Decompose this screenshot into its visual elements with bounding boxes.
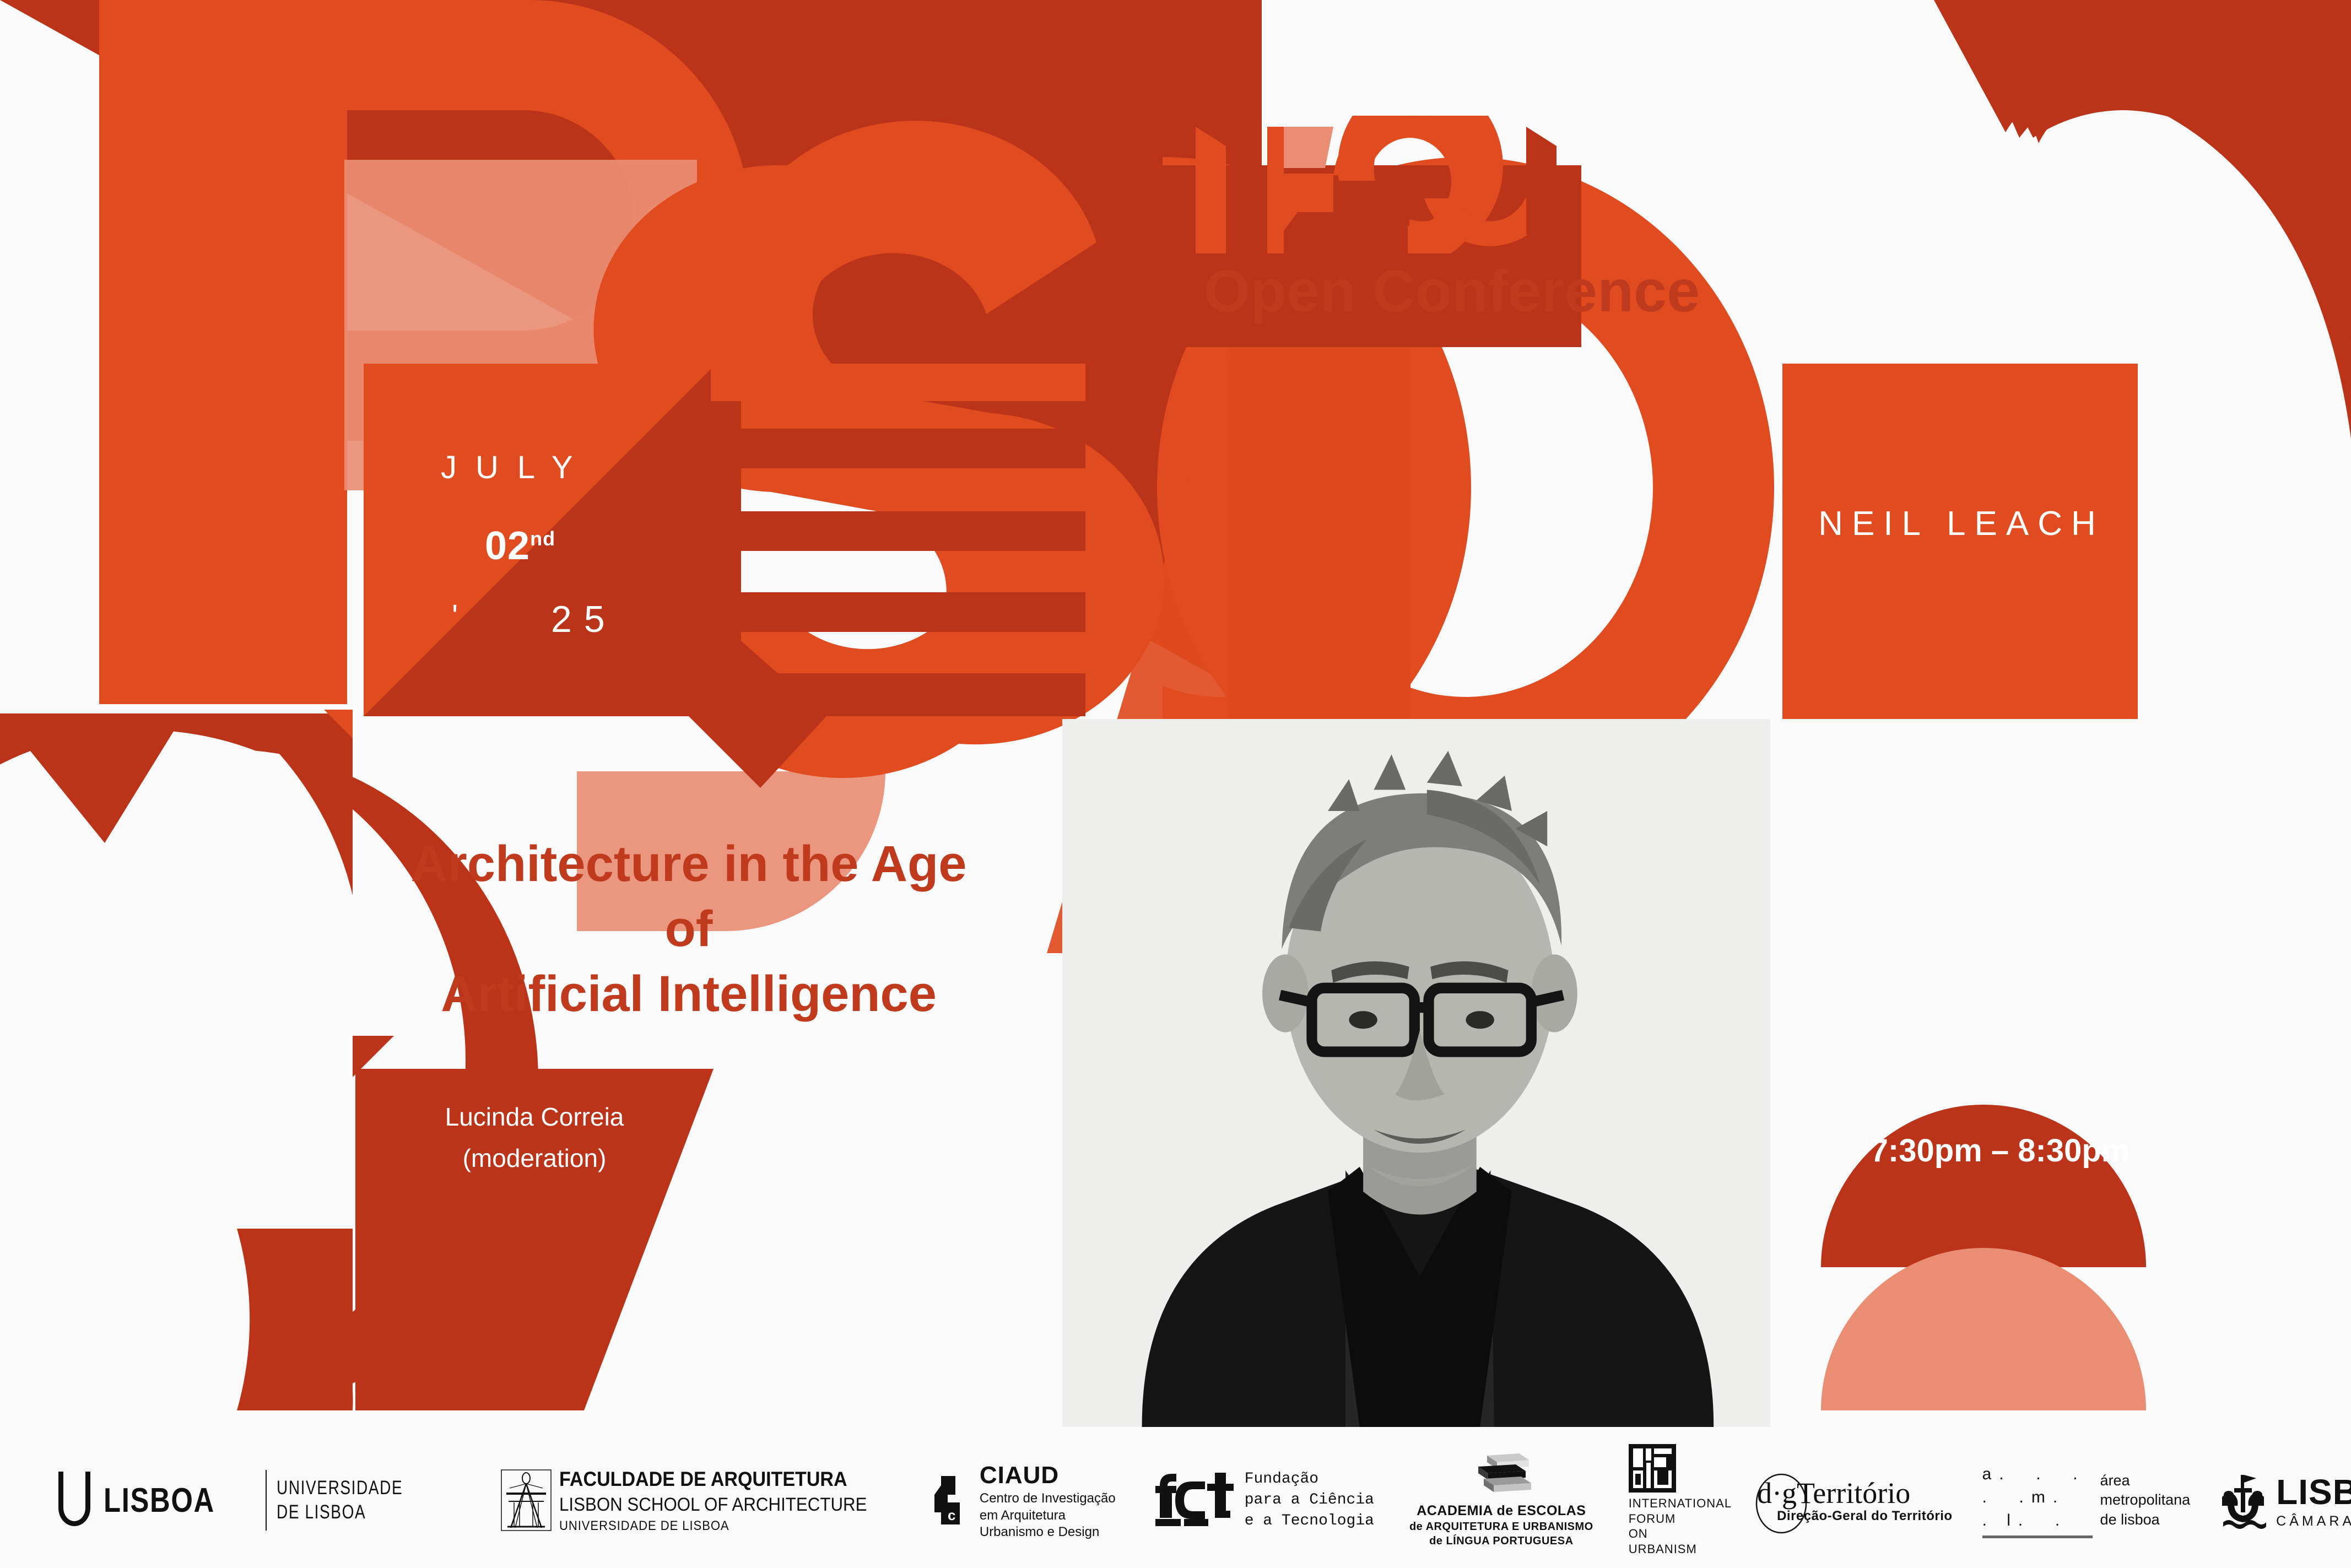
logo-fct-sub-2: para a Ciência: [1245, 1490, 1374, 1511]
conference-poster: Open Conference JULY 02nd ' 25 NEIL LEAC…: [0, 0, 2351, 1568]
corner-shape-left-arc-counter: [0, 730, 466, 1391]
corner-notch-top-right: [1959, 0, 2085, 138]
logo-academia-main: ACADEMIA de ESCOLAS: [1409, 1502, 1593, 1520]
footer-logo-strip: LISBOA UNIVERSIDADE DE LISBOA: [0, 1432, 2351, 1568]
ciaud-mark-icon: c: [932, 1474, 974, 1527]
corner-shape-left-arc: [0, 713, 538, 1410]
logo-ifou-sub-1: INTERNATIONAL: [1629, 1496, 1732, 1511]
ifou-block-icon: [1629, 1444, 1676, 1493]
logo-aml-dots-row-3: . l. .: [1982, 1511, 2068, 1529]
logo-fct-sub-3: e a Tecnologia: [1245, 1511, 1374, 1532]
wordmark-s-shadow: [678, 634, 826, 788]
wordmark-s: [593, 121, 1164, 778]
talk-time: 7:30pm – 8:30pm: [1835, 1132, 2165, 1169]
ifou-letter-u-right: [1526, 127, 1556, 253]
logo-aml-sub-1: área: [2100, 1471, 2191, 1490]
date-month: JULY: [441, 449, 592, 486]
logo-ciaud-sub-3: Urbanismo e Design: [980, 1524, 1116, 1540]
logo-faculdade-main: FACULDADE DE ARQUITETURA: [559, 1466, 867, 1493]
academia-stack-icon: [1468, 1452, 1534, 1499]
ifou-letter-f-top: [1278, 127, 1333, 168]
logo-ifou-sub-4: URBANISM: [1629, 1542, 1732, 1557]
fct-mark-icon: [1154, 1472, 1237, 1529]
logo-faculdade-arquitetura: FACULDADE DE ARQUITETURA LISBON SCHOOL O…: [501, 1466, 894, 1534]
logo-academia-sub-1: de ARQUITETURA E URBANISMO: [1409, 1520, 1593, 1534]
time-semicircle-top: [1821, 1105, 2146, 1267]
logo-aml-dots-row-2: . .m.: [1982, 1488, 2066, 1506]
logo-fct-sub-1: Fundação: [1245, 1469, 1374, 1490]
logo-ulisboa-divider: [266, 1470, 267, 1531]
talk-title-line-1: Architecture in the Age of: [380, 832, 997, 962]
logo-aml-rule: [1982, 1535, 2093, 1538]
time-semicircle-bottom: [1821, 1248, 2146, 1410]
wordmark-p-stem: [99, 0, 347, 704]
logo-ifou-sub-2: FORUM: [1629, 1511, 1732, 1527]
logo-fct: Fundação para a Ciência e a Tecnologia: [1154, 1469, 1374, 1531]
open-conference-subtitle: Open Conference: [1204, 256, 1700, 325]
moderator-name: Lucinda Correia: [419, 1096, 650, 1138]
talk-title-line-2: Artificial Intelligence: [380, 962, 997, 1027]
speaker-portrait-illustration: [1062, 719, 1770, 1427]
wordmark-p-salmon-block: [344, 160, 697, 490]
logo-dgterritorio-sub-1: Direção-Geral do Território: [1777, 1509, 1952, 1523]
logo-cm-lisboa: LISBOA CÂMARA MUNICIPAL: [2220, 1471, 2351, 1530]
e-block-stripes: [711, 364, 1085, 716]
logo-academia-sub-2: de LÍNGUA PORTUGUESA: [1409, 1534, 1593, 1548]
e-block-stem: [634, 364, 741, 716]
logo-ciaud-sub-1: Centro de Investigação: [980, 1490, 1116, 1507]
lisboa-anchor-crest-icon: [2220, 1472, 2267, 1529]
date-day-number: 02: [485, 524, 530, 568]
wordmark-p-diagonal: [0, 0, 1262, 702]
logo-dgterritorio-main: d·gTerritório: [1757, 1477, 1952, 1509]
wordmark-p-bowl: [347, 0, 749, 441]
corner-accent-square: [324, 710, 353, 738]
corner-shape-top-right: [1934, 0, 2351, 452]
moderator-credit: Lucinda Correia (moderation): [419, 1096, 650, 1178]
speaker-portrait: [1062, 719, 1770, 1427]
logo-ifou-footer: INTERNATIONAL FORUM ON URBANISM: [1629, 1444, 1732, 1556]
logo-ciaud-main: CIAUD: [980, 1460, 1116, 1490]
logo-faculdade-sub-2: UNIVERSIDADE DE LISBOA: [559, 1517, 867, 1534]
speaker-name: NEIL LEACH: [1793, 504, 2130, 543]
logo-ciaud-sub-2: em Arquitetura: [980, 1507, 1116, 1524]
date-day: 02nd: [485, 523, 555, 569]
logo-faculdade-sub-1: LISBON SCHOOL OF ARCHITECTURE: [559, 1493, 867, 1517]
logo-aml-dots-row-1: a. . .: [1982, 1465, 2085, 1483]
logo-ulisboa: LISBOA UNIVERSIDADE DE LISBOA: [55, 1470, 435, 1531]
logo-dgterritorio: d·gTerritório Direção-Geral do Territóri…: [1757, 1477, 1952, 1523]
logo-cm-lisboa-main: LISBOA: [2276, 1471, 2351, 1513]
talk-title: Architecture in the Age of Artificial In…: [380, 832, 997, 1026]
logo-cm-lisboa-sub-1: CÂMARA MUNICIPAL: [2276, 1513, 2351, 1529]
date-apostrophe: ': [452, 598, 458, 635]
logo-aml-sub-2: metropolitana: [2100, 1490, 2191, 1510]
svg-text:c: c: [948, 1507, 955, 1523]
logo-aml: a. . . . .m. . l. . área metropolitana d…: [1982, 1463, 2191, 1538]
logo-ciaud: c CIAUD Centro de Investigação em Arquit…: [932, 1460, 1116, 1540]
e-block-corner-wedge: [634, 364, 716, 446]
date-day-suffix: nd: [530, 527, 555, 550]
moderator-role: (moderation): [419, 1138, 650, 1179]
logo-ulisboa-sub-2: DE LISBOA: [277, 1500, 403, 1524]
date-year: 25: [551, 598, 617, 641]
compass-building-icon: [501, 1469, 552, 1531]
logo-academia-escolas: ACADEMIA de ESCOLAS de ARQUITETURA E URB…: [1409, 1452, 1593, 1549]
logo-ulisboa-sub-1: UNIVERSIDADE: [277, 1476, 403, 1500]
ifou-letter-u-left: [1455, 127, 1485, 218]
ulisboa-u-icon: [55, 1472, 94, 1529]
logo-ulisboa-wordmark: LISBOA: [104, 1481, 215, 1520]
ifou-logo: [1196, 116, 1647, 253]
logo-ifou-sub-3: ON: [1629, 1526, 1732, 1542]
moderator-block-tab: [355, 1036, 391, 1069]
ifou-letter-i: [1196, 127, 1226, 253]
logo-aml-sub-3: de lisboa: [2100, 1510, 2191, 1529]
